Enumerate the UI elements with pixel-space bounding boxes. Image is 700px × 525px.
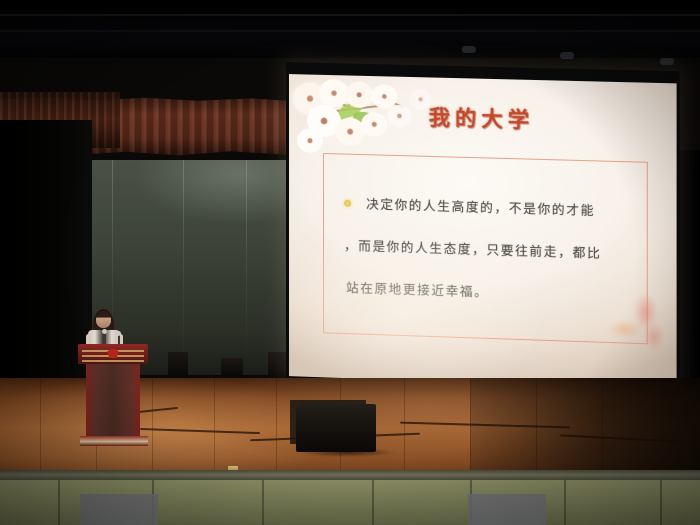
auditorium-stage-photo: 我的大学 决定你的人生高度的，不是你的才能 ，而是你的人生态度，只要往前走，都比… — [0, 0, 700, 525]
slide-body-line-3: 站在原地更接近幸福。 — [346, 277, 488, 301]
stage-apron — [0, 480, 700, 525]
podium-body — [86, 364, 140, 442]
slide-body-line-1: 决定你的人生高度的，不是你的才能 — [366, 193, 595, 219]
rig-light-icon — [462, 46, 476, 53]
stage-monitor-speaker — [168, 352, 188, 376]
microphone-head-icon — [116, 331, 121, 336]
ceiling-lighting-rig — [0, 0, 700, 58]
floor-monitor-speaker — [296, 404, 376, 452]
presentation-slide: 我的大学 决定你的人生高度的，不是你的才能 ，而是你的人生态度，只要往前走，都比… — [289, 74, 677, 390]
slide-content-box: 决定你的人生高度的，不是你的才能 ，而是你的人生态度，只要往前走，都比 站在原地… — [323, 153, 648, 344]
projection-screen: 我的大学 决定你的人生高度的，不是你的才能 ，而是你的人生态度，只要往前走，都比… — [286, 62, 680, 396]
apron-vent-panel — [80, 494, 158, 525]
presenter-head — [96, 311, 111, 328]
rig-light-icon — [660, 58, 674, 65]
rig-light-icon — [560, 52, 574, 59]
slide-body-line-2: ，而是你的人生态度，只要往前走，都比 — [344, 235, 601, 262]
podium-base — [80, 436, 148, 446]
apron-vent-panel — [468, 494, 546, 525]
bullet-dot-icon — [344, 200, 351, 207]
stage-monitor-speaker — [221, 358, 243, 376]
corner-flower-decoration — [603, 294, 675, 359]
stage-monitor-speaker — [268, 352, 288, 376]
microphone-head-icon — [102, 329, 107, 334]
